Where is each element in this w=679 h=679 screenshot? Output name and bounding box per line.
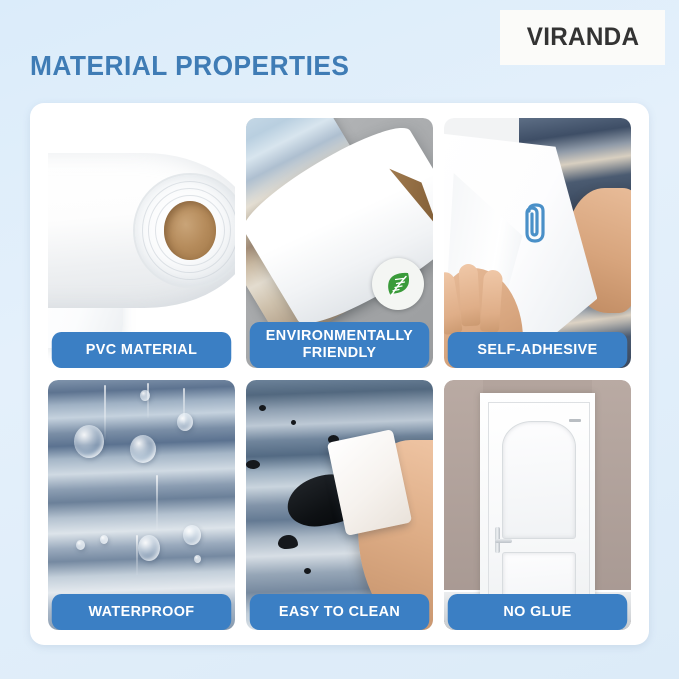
pvc-roll-image [48,118,235,368]
feature-label-no-glue: NO GLUE [448,594,628,630]
page-title: MATERIAL PROPERTIES [30,50,349,82]
feature-label-easy-to-clean: EASY TO CLEAN [250,594,430,630]
feature-card-easy-to-clean[interactable]: EASY TO CLEAN [246,380,433,630]
easy-to-clean-image [246,380,433,630]
page-header: MATERIAL PROPERTIES VIRANDA [0,0,679,103]
brand-logo: VIRANDA [500,10,665,65]
self-adhesive-image [444,118,631,368]
leaf-icon [381,267,415,301]
feature-card-self-adhesive[interactable]: SELF-ADHESIVE [444,118,631,368]
no-glue-image [444,380,631,630]
paperclip-icon [519,198,553,248]
feature-label-pvc-material: PVC MATERIAL [52,332,232,368]
leaf-badge [372,258,424,310]
features-panel: PVC MATERIAL ENVIRONMENTALLY FR [30,103,649,645]
waterproof-image [48,380,235,630]
feature-card-no-glue[interactable]: NO GLUE [444,380,631,630]
feature-card-environmentally-friendly[interactable]: ENVIRONMENTALLY FRIENDLY [246,118,433,368]
feature-card-pvc-material[interactable]: PVC MATERIAL [48,118,235,368]
features-grid: PVC MATERIAL ENVIRONMENTALLY FR [48,118,631,630]
feature-label-self-adhesive: SELF-ADHESIVE [448,332,628,368]
feature-label-waterproof: WATERPROOF [52,594,232,630]
feature-card-waterproof[interactable]: WATERPROOF [48,380,235,630]
feature-label-environmentally-friendly: ENVIRONMENTALLY FRIENDLY [250,322,430,368]
brand-name: VIRANDA [526,23,639,52]
